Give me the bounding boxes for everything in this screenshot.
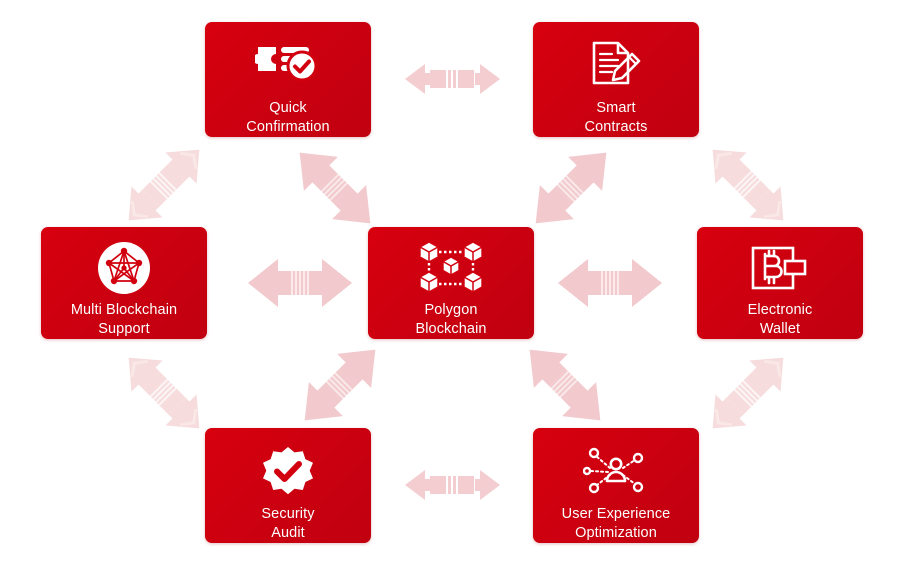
node-security-audit[interactable]: Security Audit	[205, 428, 371, 543]
connector-quick-to-smart	[405, 56, 500, 102]
node-multi-blockchain-support[interactable]: Multi Blockchain Support	[41, 227, 207, 339]
node-electronic-wallet[interactable]: Electronic Wallet	[697, 227, 863, 339]
blockchain-cubes-icon	[368, 227, 534, 299]
badge-check-icon	[205, 428, 371, 501]
node-label: Quick Confirmation	[205, 99, 371, 137]
node-label: Security Audit	[205, 505, 371, 543]
connector-ux-to-polygon	[521, 345, 609, 425]
node-label-line2: Optimization	[575, 525, 657, 541]
node-label-line1: User Experience	[562, 506, 671, 522]
connector-multi-to-polygon	[248, 256, 352, 310]
node-label-line2: Contracts	[585, 119, 648, 135]
node-label: Multi Blockchain Support	[41, 301, 207, 339]
connector-wallet-to-ux	[700, 348, 796, 438]
node-polygon-blockchain[interactable]: Polygon Blockchain	[368, 227, 534, 339]
node-label-line1: Polygon	[424, 302, 477, 318]
connector-security-to-polygon	[296, 345, 384, 425]
node-label-line1: Smart	[596, 100, 635, 116]
node-label: User Experience Optimization	[533, 505, 699, 543]
node-label: Smart Contracts	[533, 99, 699, 137]
bitcoin-wallet-icon	[697, 227, 863, 299]
node-label-line2: Blockchain	[415, 321, 486, 337]
connector-polygon-to-wallet	[558, 256, 662, 310]
node-quick-confirmation[interactable]: Quick Confirmation	[205, 22, 371, 137]
connector-multi-to-quick	[116, 140, 212, 230]
node-label-line2: Support	[98, 321, 150, 337]
user-network-icon	[533, 428, 699, 501]
connector-quick-to-polygon	[291, 148, 379, 228]
node-user-experience-optimization[interactable]: User Experience Optimization	[533, 428, 699, 543]
connector-multi-to-security	[116, 348, 212, 438]
node-label-line2: Confirmation	[246, 119, 329, 135]
node-label: Electronic Wallet	[697, 301, 863, 339]
ticket-check-icon	[205, 22, 371, 95]
network-mesh-icon	[41, 227, 207, 299]
node-label-line1: Security	[261, 506, 314, 522]
node-label: Polygon Blockchain	[368, 301, 534, 339]
node-label-line1: Multi Blockchain	[71, 302, 177, 318]
node-label-line1: Electronic	[748, 302, 813, 318]
node-label-line2: Wallet	[760, 321, 800, 337]
node-smart-contracts[interactable]: Smart Contracts	[533, 22, 699, 137]
node-label-line1: Quick	[269, 100, 307, 116]
connector-smart-to-polygon	[527, 148, 615, 228]
node-label-line2: Audit	[271, 525, 305, 541]
document-pencil-icon	[533, 22, 699, 95]
diagram-canvas: Quick Confirmation Smart Contracts	[0, 0, 900, 565]
connector-smart-to-wallet	[700, 140, 796, 230]
connector-security-to-ux	[405, 462, 500, 508]
